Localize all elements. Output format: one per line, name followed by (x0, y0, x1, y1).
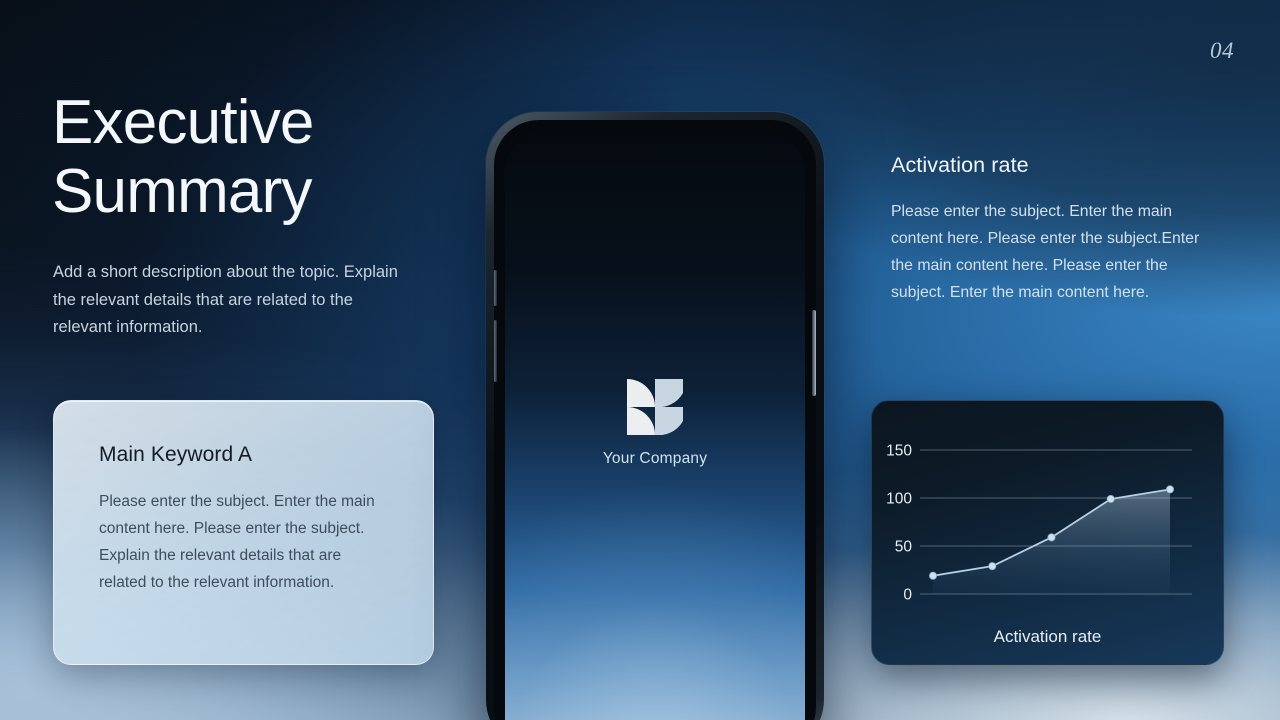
activation-rate-heading: Activation rate (891, 153, 1029, 178)
chart-caption: Activation rate (872, 627, 1223, 647)
keyword-card-title: Main Keyword A (99, 443, 252, 467)
chart-y-tick-label: 50 (895, 539, 913, 556)
phone-screen: Your Company (505, 131, 805, 720)
chart-data-point (1166, 486, 1173, 493)
chart-data-point (929, 572, 936, 579)
chart-data-point (1048, 534, 1055, 541)
phone-power-button[interactable] (812, 310, 816, 396)
page-number: 04 (1210, 38, 1234, 64)
lead-paragraph: Add a short description about the topic.… (53, 259, 413, 342)
activation-rate-body: Please enter the subject. Enter the main… (891, 198, 1203, 306)
chart-area-fill (933, 489, 1170, 594)
chart-data-point (1107, 495, 1114, 502)
slide-root: 04 ExecutiveSummary Add a short descript… (0, 0, 1280, 720)
page-title-line-2: Summary (52, 157, 472, 226)
activation-rate-chart-card: 150100500 Activation rate (871, 400, 1224, 665)
phone-mute-switch[interactable] (494, 270, 497, 306)
keyword-card: Main Keyword A Please enter the subject.… (53, 400, 434, 665)
chart-y-tick-label: 0 (903, 587, 912, 604)
keyword-card-body: Please enter the subject. Enter the main… (99, 489, 381, 597)
chart-y-tick-label: 100 (886, 491, 912, 508)
company-logo-icon (627, 379, 683, 435)
phone-mockup: Your Company (486, 112, 824, 720)
company-name: Your Company (603, 450, 707, 468)
page-title: ExecutiveSummary (52, 88, 472, 227)
page-title-line-1: Executive (52, 88, 314, 157)
chart-data-point (989, 563, 996, 570)
phone-volume-button[interactable] (494, 320, 497, 382)
activation-rate-line-chart: 150100500 (872, 401, 1224, 621)
phone-branding: Your Company (505, 379, 805, 468)
chart-y-tick-label: 150 (886, 443, 912, 460)
chart-plot-layer: 150100500 (886, 443, 1192, 604)
phone-bezel: Your Company (494, 120, 816, 720)
